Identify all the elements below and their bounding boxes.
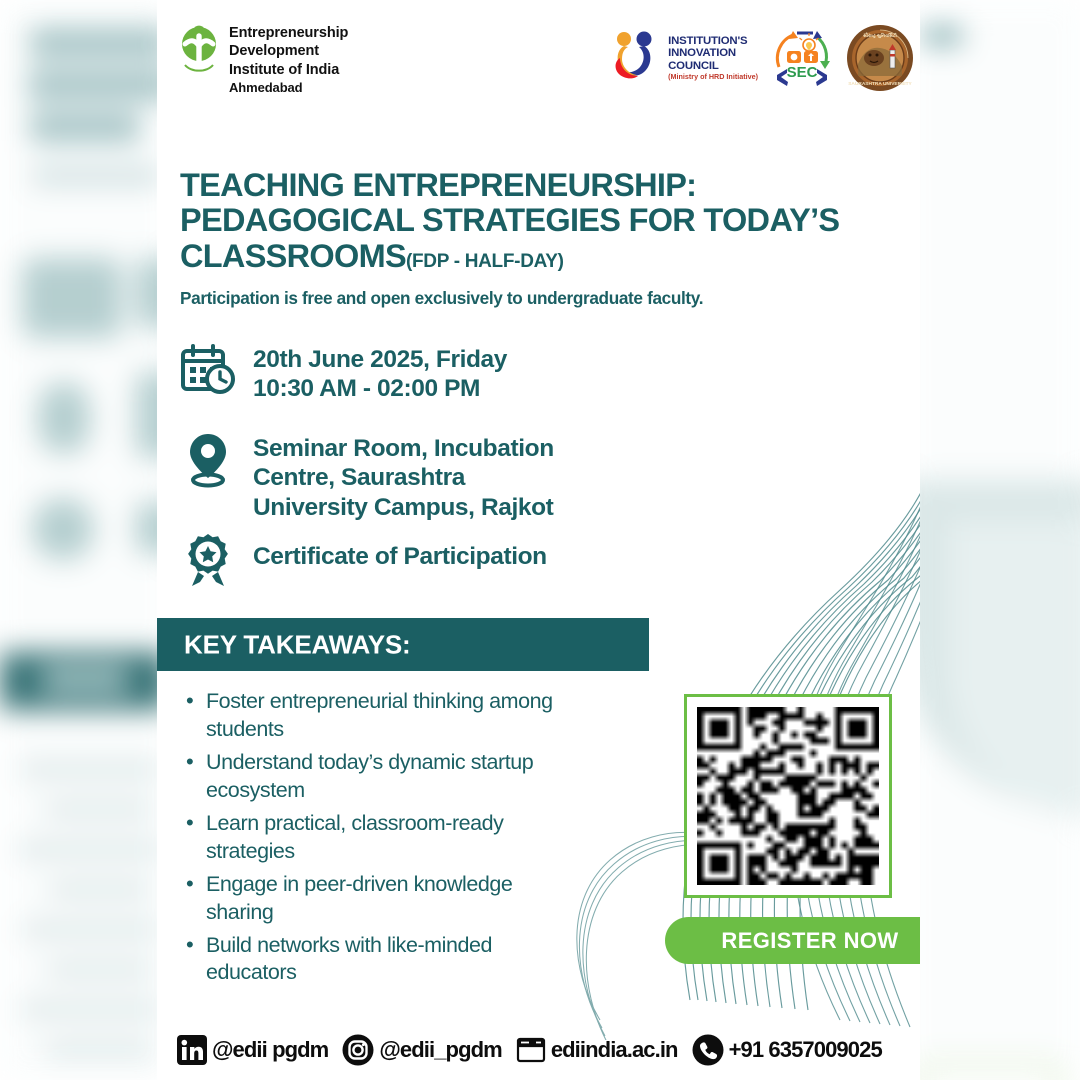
location-pin-icon-wrap (180, 432, 236, 488)
edii-wordmark: Entrepreneurship Development Institute o… (229, 22, 348, 97)
footer-phone[interactable]: +91 6357009025 (692, 1034, 882, 1066)
detail-row-certificate: Certificate of Participation (180, 532, 650, 588)
instagram-handle: @edii_pgdm (379, 1037, 501, 1063)
edii-name-line-2: Development (229, 42, 348, 60)
title-line-3: CLASSROOMS (180, 238, 406, 274)
calendar-clock-icon-wrap (180, 343, 236, 395)
poster-header: Entrepreneurship Development Institute o… (157, 14, 920, 114)
page-title: TEACHING ENTREPRENEURSHIP: PEDAGOGICAL S… (180, 168, 880, 274)
linkedin-handle: @edii pgdm (212, 1037, 328, 1063)
sec-logo-icon: SEC (767, 25, 837, 91)
blurred-background-left (0, 0, 168, 1080)
iic-logo-icon (611, 30, 663, 86)
location-pin-icon (188, 432, 228, 488)
venue-text: Seminar Room, Incubation Centre, Saurash… (253, 432, 554, 522)
detail-row-venue: Seminar Room, Incubation Centre, Saurash… (180, 432, 650, 522)
iic-subtitle: (Ministry of HRD Initiative) (668, 73, 758, 81)
venue-line-3: University Campus, Rajkot (253, 494, 553, 521)
list-item: Understand today’s dynamic startup ecosy… (181, 749, 581, 805)
contact-footer: @edii pgdm @edii_pgdm ediindia.ac.in (177, 1028, 917, 1072)
venue-line-1: Seminar Room, Incubation (253, 435, 554, 462)
list-item: Learn practical, classroom-ready strateg… (181, 810, 581, 866)
key-takeaways-list: Foster entrepreneurial thinking among st… (181, 688, 581, 992)
iic-name-line-1: INSTITUTION'S (668, 35, 758, 48)
qr-code-container[interactable] (684, 694, 892, 898)
iic-logo: INSTITUTION'S INNOVATION COUNCIL (Minist… (611, 30, 758, 86)
calendar-clock-icon (180, 343, 236, 395)
list-item: Build networks with like-minded educator… (181, 932, 581, 988)
footer-instagram[interactable]: @edii_pgdm (342, 1034, 501, 1066)
title-format-suffix: (FDP - HALF-DAY) (406, 251, 564, 272)
venue-line-2: Centre, Saurashtra (253, 464, 465, 491)
key-takeaways-heading: KEY TAKEAWAYS: (184, 629, 410, 660)
svg-text:SAURASHTRA UNIVERSITY: SAURASHTRA UNIVERSITY (848, 81, 912, 87)
title-line-2: PEDAGOGICAL STRATEGIES FOR TODAY’S (180, 202, 839, 238)
edii-name-line-3: Institute of India (229, 61, 348, 79)
footer-website[interactable]: ediindia.ac.in (516, 1036, 678, 1064)
tagline: Participation is free and open exclusive… (180, 288, 880, 309)
footer-linkedin[interactable]: @edii pgdm (177, 1035, 328, 1065)
edii-city: Ahmedabad (229, 80, 348, 97)
certificate-text: Certificate of Participation (253, 532, 547, 571)
university-seal-icon: સૌરાષ્ટ્ર યુનિવર્સિટી SAURASHTRA UNIVERS… (846, 24, 914, 92)
iic-name-line-3: COUNCIL (668, 60, 758, 73)
edii-person-logo-icon (179, 22, 219, 80)
instagram-icon (342, 1034, 374, 1066)
certificate-badge-icon-wrap (180, 532, 236, 588)
edii-logo: Entrepreneurship Development Institute o… (179, 22, 348, 97)
partner-logos: INSTITUTION'S INNOVATION COUNCIL (Minist… (611, 24, 914, 92)
qr-code-icon[interactable] (697, 707, 879, 885)
event-time: 10:30 AM - 02:00 PM (253, 375, 480, 402)
iic-name-line-2: INNOVATION (668, 47, 758, 60)
website-url: ediindia.ac.in (551, 1037, 678, 1063)
svg-text:SEC: SEC (787, 64, 818, 81)
event-poster-card: Entrepreneurship Development Institute o… (157, 0, 920, 1080)
key-takeaways-banner: KEY TAKEAWAYS: (157, 618, 649, 671)
list-item: Foster entrepreneurial thinking among st… (181, 688, 581, 744)
register-now-button[interactable]: REGISTER NOW (665, 917, 920, 964)
title-line-1: TEACHING ENTREPRENEURSHIP: (180, 167, 696, 203)
title-block: TEACHING ENTREPRENEURSHIP: PEDAGOGICAL S… (180, 168, 880, 309)
list-item: Engage in peer-driven knowledge sharing (181, 871, 581, 927)
phone-number: +91 6357009025 (729, 1037, 882, 1063)
datetime-text: 20th June 2025, Friday 10:30 AM - 02:00 … (253, 343, 507, 404)
event-date: 20th June 2025, Friday (253, 346, 507, 373)
website-icon (516, 1036, 546, 1064)
phone-icon (692, 1034, 724, 1066)
event-details: 20th June 2025, Friday 10:30 AM - 02:00 … (180, 343, 650, 588)
iic-wordmark: INSTITUTION'S INNOVATION COUNCIL (Minist… (668, 35, 758, 82)
blurred-background-right (908, 0, 1080, 1080)
certificate-badge-icon (184, 532, 232, 588)
register-button-label: REGISTER NOW (721, 928, 898, 954)
detail-row-datetime: 20th June 2025, Friday 10:30 AM - 02:00 … (180, 343, 650, 404)
linkedin-icon (177, 1035, 207, 1065)
edii-name-line-1: Entrepreneurship (229, 24, 348, 42)
